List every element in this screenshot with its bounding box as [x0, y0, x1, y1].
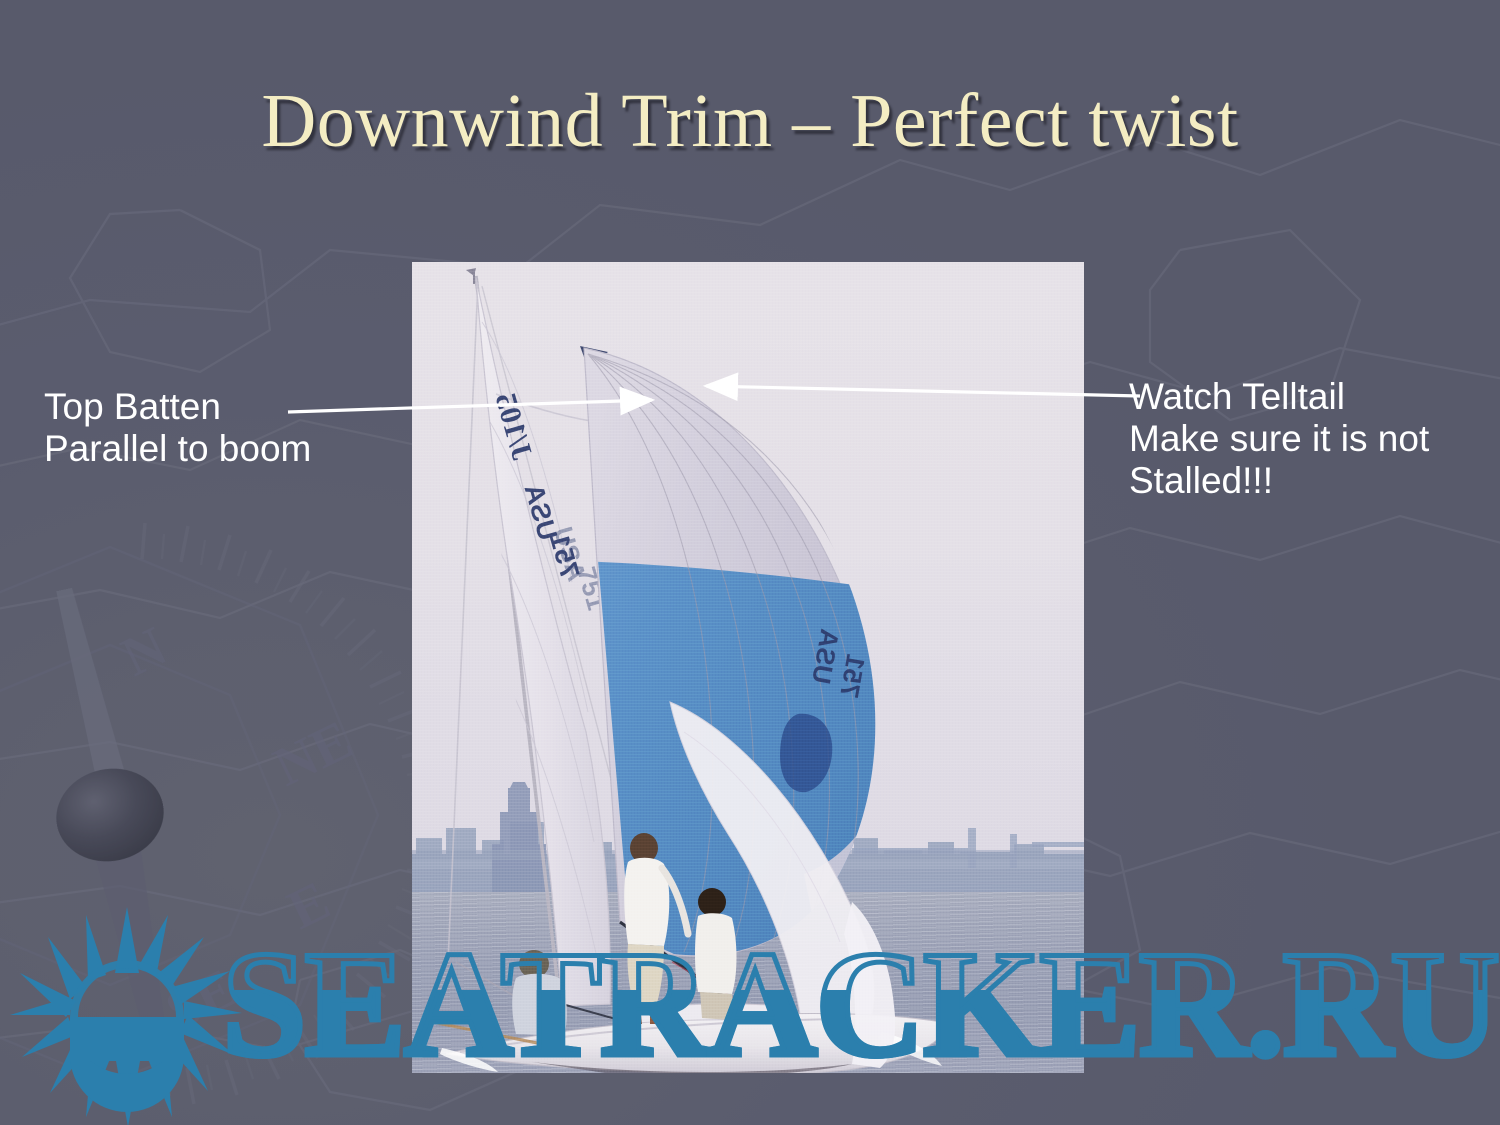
svg-text:N: N: [113, 615, 177, 688]
svg-text:NE: NE: [265, 709, 362, 799]
annotation-top-batten: Top Batten Parallel to boom: [44, 386, 311, 470]
sunburst-icon: [8, 905, 246, 1125]
slide-title: Downwind Trim – Perfect twist: [0, 82, 1500, 162]
annotation-watch-telltail: Watch Telltail Make sure it is not Stall…: [1129, 376, 1429, 501]
slide-canvas: N NE E SE NW W Downwind Trim – Perfect t…: [0, 0, 1500, 1125]
